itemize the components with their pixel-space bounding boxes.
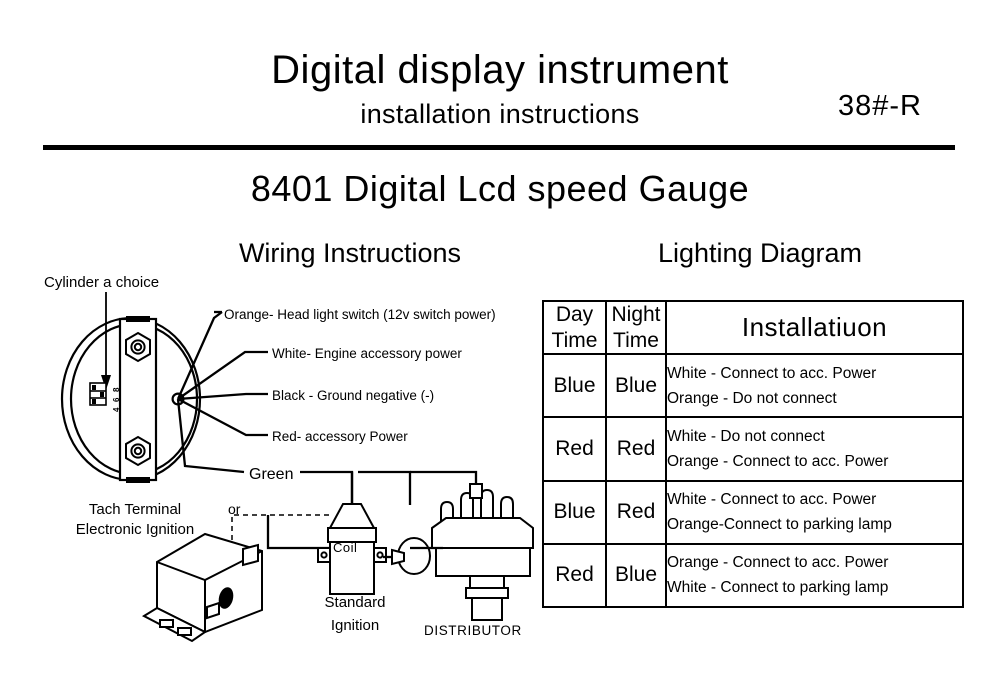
installation-line-2: Orange - Do not connect	[667, 386, 962, 411]
standard-ignition-branch	[268, 515, 330, 548]
wire-label-orange: Orange- Head light switch (12v switch po…	[224, 306, 496, 324]
table-row: Red Blue Orange - Connect to acc. Power …	[543, 544, 963, 607]
wire-label-red: Red- accessory Power	[272, 428, 408, 446]
cell-night-color: Red	[606, 481, 666, 544]
table-header-row: Day Time Night Time Installatiuon	[543, 301, 963, 354]
distributor-label: DISTRIBUTOR	[424, 622, 522, 640]
cylinder-dip-switch	[90, 383, 106, 405]
wire-label-white: White- Engine accessory power	[272, 345, 462, 363]
electronic-ignition-module	[144, 534, 262, 641]
cylinder-choice-arrow	[101, 292, 111, 390]
table-row: Blue Blue White - Connect to acc. Power …	[543, 354, 963, 417]
or-label: or	[228, 500, 240, 519]
lighting-diagram-table: Day Time Night Time Installatiuon Blue B…	[542, 300, 964, 608]
cell-day-color: Red	[543, 417, 606, 480]
night-time-line1: Night	[607, 302, 665, 328]
cell-day-color: Blue	[543, 354, 606, 417]
dip-option-8: 8	[112, 388, 121, 392]
installation-line-2: Orange - Connect to acc. Power	[667, 449, 962, 474]
cell-installation: White - Connect to acc. Power Orange-Con…	[666, 481, 963, 544]
cell-installation: White - Do not connect Orange - Connect …	[666, 417, 963, 480]
coil-label: Coil	[333, 539, 357, 557]
installation-line-1: White - Do not connect	[667, 424, 962, 449]
installation-line-2: Orange-Connect to parking lamp	[667, 512, 962, 537]
green-wire-route	[300, 472, 410, 505]
wire-label-black: Black - Ground negative (-)	[272, 387, 434, 405]
table-row: Red Red White - Do not connect Orange - …	[543, 417, 963, 480]
installation-line-1: White - Connect to acc. Power	[667, 361, 962, 386]
cell-day-color: Red	[543, 544, 606, 607]
tach-terminal-label: Tach Terminal Electronic Ignition	[60, 500, 210, 541]
mounting-nut-lower	[126, 437, 150, 465]
standard-ignition-label: Standard Ignition	[307, 592, 403, 637]
day-time-line1: Day	[544, 302, 605, 328]
cell-installation: White - Connect to acc. Power Orange - D…	[666, 354, 963, 417]
wire-lead-lines	[178, 312, 268, 472]
cell-day-color: Blue	[543, 481, 606, 544]
cell-night-color: Blue	[606, 544, 666, 607]
distributor	[383, 472, 533, 620]
installation-line-1: White - Connect to acc. Power	[667, 487, 962, 512]
night-time-line2: Time	[607, 328, 665, 354]
dip-option-4: 4	[112, 408, 121, 412]
installation-line-1: Orange - Connect to acc. Power	[667, 550, 962, 575]
wire-label-green: Green	[249, 464, 293, 486]
column-header-installation: Installatiuon	[666, 301, 963, 354]
ignition-coil	[318, 472, 386, 594]
cell-night-color: Blue	[606, 354, 666, 417]
cylinder-choice-label: Cylinder a choice	[44, 273, 159, 293]
table-row: Blue Red White - Connect to acc. Power O…	[543, 481, 963, 544]
cell-installation: Orange - Connect to acc. Power White - C…	[666, 544, 963, 607]
column-header-day-time: Day Time	[543, 301, 606, 354]
installation-line-2: White - Connect to parking lamp	[667, 575, 962, 600]
part-number: 38#-R	[838, 90, 922, 123]
day-time-line2: Time	[544, 328, 605, 354]
instruction-sheet-page: Digital display instrument installation …	[0, 0, 1000, 696]
mounting-nut-upper	[126, 333, 150, 361]
column-header-night-time: Night Time	[606, 301, 666, 354]
dip-option-6: 6	[112, 398, 121, 402]
lighting-diagram-heading: Lighting Diagram	[590, 238, 930, 269]
cell-night-color: Red	[606, 417, 666, 480]
